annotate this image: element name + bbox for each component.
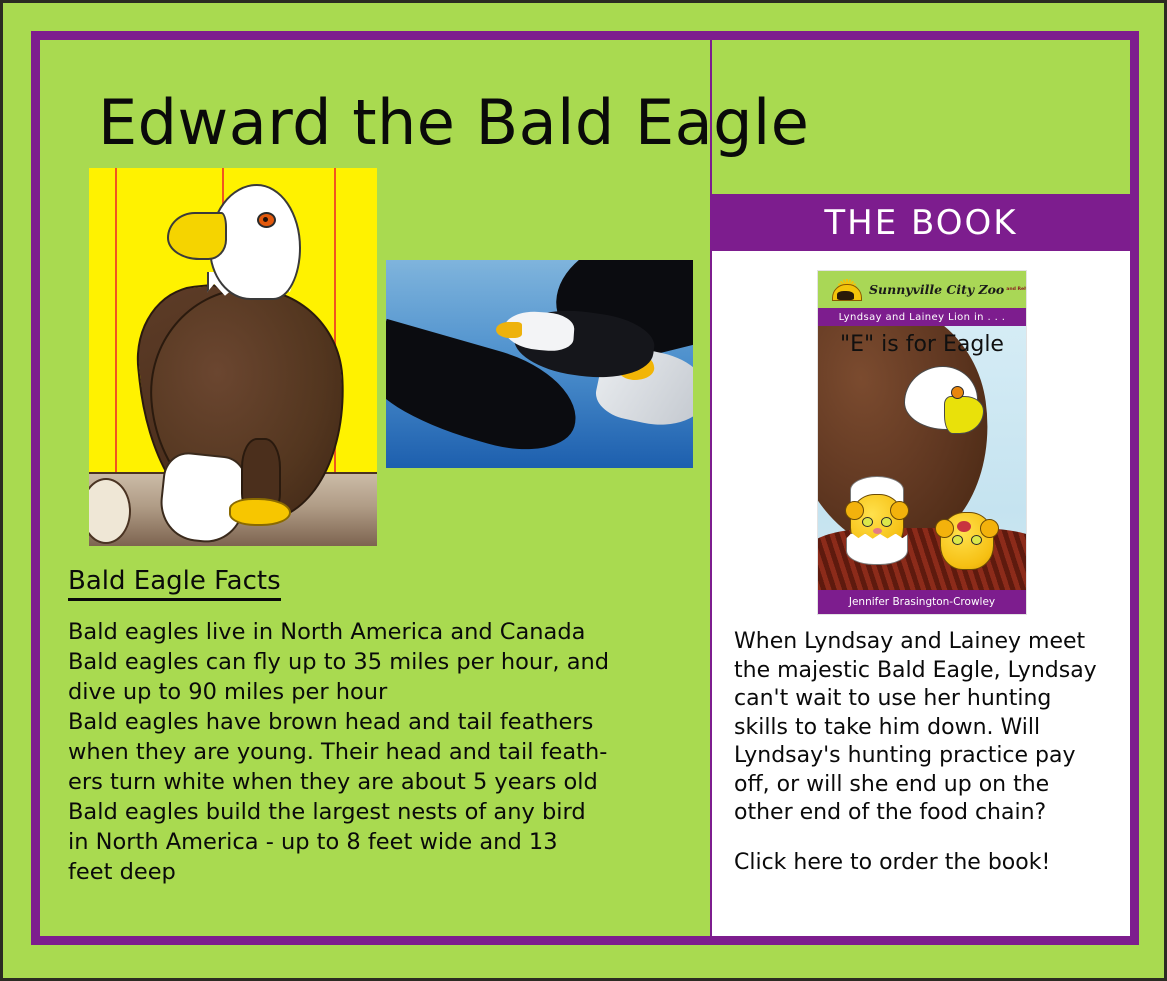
cover-publisher-name: Sunnyville City Zoo <box>869 282 1004 297</box>
cover-title: "E" is for Eagle <box>818 332 1026 357</box>
fact-line: ers turn white when they are about 5 yea… <box>68 767 698 797</box>
eagle-foot <box>229 498 291 526</box>
cover-eggshell-bottom <box>846 533 908 565</box>
flying-bald-eagle-photo <box>386 260 693 468</box>
cover-publisher-bar: Sunnyville City Zoo and Rehabilitation C… <box>818 271 1026 308</box>
photo-eagle-beak <box>496 322 522 338</box>
cover-series-label: Lyndsay and Lainey Lion in . . . <box>839 312 1006 323</box>
book-cover-image[interactable]: Sunnyville City Zoo and Rehabilitation C… <box>817 270 1027 615</box>
sun-with-animals-icon <box>826 277 866 303</box>
blurb-line: the majestic Bald Eagle, Lyndsay <box>734 657 1114 686</box>
eagle-eye <box>257 212 276 228</box>
fact-line: Bald eagles build the largest nests of a… <box>68 797 698 827</box>
fact-line: in North America - up to 8 feet wide and… <box>68 827 698 857</box>
facts-heading: Bald Eagle Facts <box>68 566 281 601</box>
page-root: Edward the Bald Eagle <box>0 0 1167 981</box>
bald-eagle-facts-section: Bald Eagle Facts Bald eagles live in Nor… <box>68 566 698 887</box>
fact-line: dive up to 90 miles per hour <box>68 677 698 707</box>
page-title: Edward the Bald Eagle <box>98 86 809 159</box>
left-column: Bald Eagle Facts Bald eagles live in Nor… <box>41 168 709 936</box>
book-description: When Lyndsay and Lainey meet the majesti… <box>734 628 1114 828</box>
blurb-line: Lyndsay's hunting practice pay <box>734 742 1114 771</box>
the-book-header: THE BOOK <box>712 194 1130 251</box>
cover-author-bar: Jennifer Brasington-Crowley <box>818 590 1026 614</box>
cover-series-bar: Lyndsay and Lainey Lion in . . . <box>818 308 1026 326</box>
the-book-header-label: THE BOOK <box>824 203 1017 243</box>
blurb-line: skills to take him down. Will <box>734 714 1114 743</box>
fact-line: feet deep <box>68 857 698 887</box>
fact-line: when they are young. Their head and tail… <box>68 737 698 767</box>
cover-author-name: Jennifer Brasington-Crowley <box>849 596 995 608</box>
eagle-beak <box>167 212 227 260</box>
cover-publisher-suffix: and Rehabilitation Center <box>1006 287 1026 292</box>
order-book-link[interactable]: Click here to order the book! <box>734 850 1050 875</box>
fact-line: Bald eagles have brown head and tail fea… <box>68 707 698 737</box>
cover-artwork: "E" is for Eagle <box>818 326 1026 590</box>
blurb-line: off, or will she end up on the <box>734 771 1114 800</box>
blurb-line: When Lyndsay and Lainey meet <box>734 628 1114 657</box>
blurb-line: can't wait to use her hunting <box>734 685 1114 714</box>
perched-bald-eagle-illustration <box>89 168 377 546</box>
fact-line: Bald eagles live in North America and Ca… <box>68 617 698 647</box>
cover-lion-cub-right <box>940 512 994 570</box>
blurb-line: other end of the food chain? <box>734 799 1114 828</box>
fact-line: Bald eagles can fly up to 35 miles per h… <box>68 647 698 677</box>
cover-adult-eagle-eye <box>951 386 964 399</box>
